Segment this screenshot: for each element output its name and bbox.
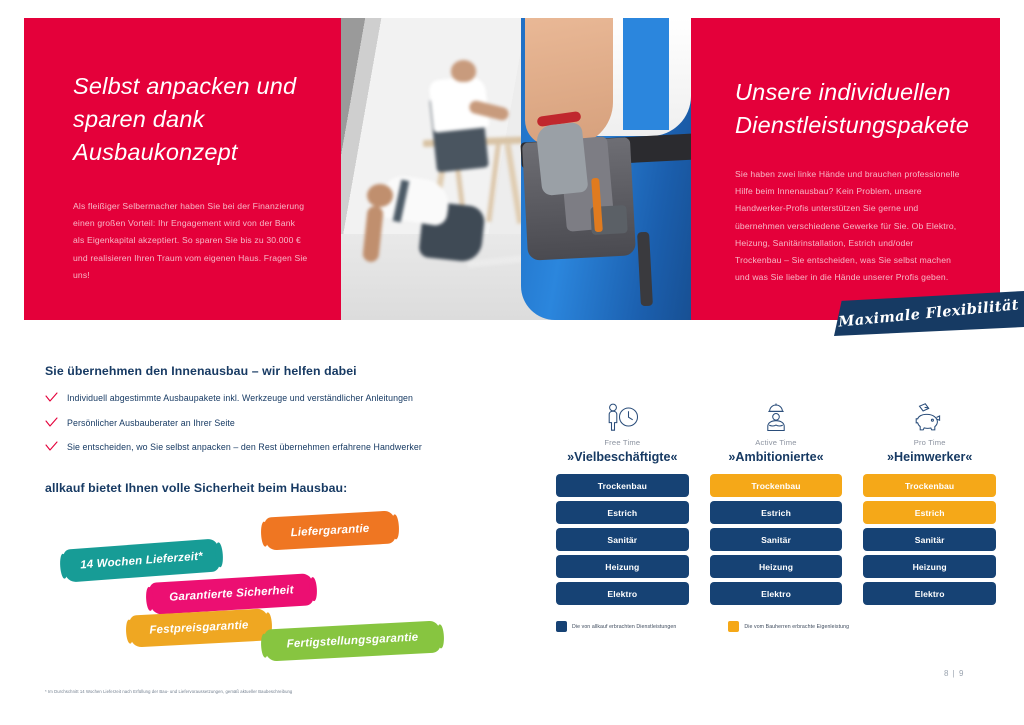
photo-worker-kneeling [363,170,473,282]
legend-swatch-navy [556,621,567,632]
list-item: Sie entscheiden, wo Sie selbst anpacken … [45,441,515,453]
service-packages: Free Time »Vielbeschäftigte« Trockenbau … [556,392,996,609]
package-row-trockenbau: Trockenbau [710,474,843,497]
package-column-vielbeschaeftigte: Free Time »Vielbeschäftigte« Trockenbau … [556,392,689,609]
check-icon [45,392,67,403]
person-clock-icon [603,392,641,432]
hero-photo [341,18,691,320]
hero-right-body: Sie haben zwei linke Hände und brauchen … [735,166,960,286]
package-title: »Ambitionierte« [728,450,823,464]
package-row-estrich: Estrich [710,501,843,524]
badge-14-wochen-lieferzeit: 14 Wochen Lieferzeit* [63,538,220,582]
package-row-trockenbau: Trockenbau [863,474,996,497]
hero-right-title: Unsere individuellen Dienstleistungspake… [735,76,970,142]
guarantee-badges: Liefergarantie 14 Wochen Lieferzeit* Gar… [45,505,465,655]
hero-panel-left: Selbst anpacken und sparen dank Ausbauko… [24,18,341,320]
package-title: »Vielbeschäftigte« [567,450,677,464]
package-subtitle: Active Time [755,438,796,447]
innenausbau-checklist: Individuell abgestimmte Ausbaupakete ink… [45,392,515,466]
hero-band: Selbst anpacken und sparen dank Ausbauko… [24,18,1000,320]
check-icon [45,441,67,452]
photo-foreground-craftsman [501,18,691,320]
package-row-sanitaer: Sanitär [710,528,843,551]
list-item: Individuell abgestimmte Ausbaupakete ink… [45,392,515,404]
legend-label: Die von allkauf erbrachten Dienstleistun… [572,624,676,630]
brochure-page: Selbst anpacken und sparen dank Ausbauko… [0,0,1024,725]
package-row-estrich: Estrich [556,501,689,524]
package-subtitle: Pro Time [914,438,946,447]
hero-left-body: Als fleißiger Selbermacher haben Sie bei… [73,198,309,284]
package-row-heizung: Heizung [710,555,843,578]
legend-label: Die vom Bauherren erbrachte Eigenleistun… [744,624,849,630]
piggy-bank-icon [911,392,949,432]
list-item-label: Sie entscheiden, wo Sie selbst anpacken … [67,441,422,453]
legend-item-bauherr: Die vom Bauherren erbrachte Eigenleistun… [728,621,849,632]
badge-fertigstellungsgarantie: Fertigstellungsgarantie [264,620,440,661]
list-item-label: Persönlicher Ausbauberater an Ihrer Seit… [67,417,235,429]
package-row-sanitaer: Sanitär [556,528,689,551]
package-row-elektro: Elektro [556,582,689,605]
worker-helmet-icon [757,392,795,432]
innenausbau-heading: Sie übernehmen den Innenausbau – wir hel… [45,364,357,378]
package-column-heimwerker: Pro Time »Heimwerker« Trockenbau Estrich… [863,392,996,609]
packages-legend: Die von allkauf erbrachten Dienstleistun… [556,621,849,632]
badge-garantierte-sicherheit: Garantierte Sicherheit [149,573,314,615]
package-row-heizung: Heizung [863,555,996,578]
hero-panel-right: Unsere individuellen Dienstleistungspake… [691,18,1000,320]
package-row-trockenbau: Trockenbau [556,474,689,497]
package-rows: Trockenbau Estrich Sanitär Heizung Elekt… [556,474,689,609]
legend-item-allkauf: Die von allkauf erbrachten Dienstleistun… [556,621,676,632]
badge-festpreisgarantie: Festpreisgarantie [129,608,268,647]
legend-swatch-orange [728,621,739,632]
package-rows: Trockenbau Estrich Sanitär Heizung Elekt… [710,474,843,609]
photo-worker-standing [425,60,489,170]
package-subtitle: Free Time [604,438,640,447]
flexibility-ribbon-label: Maximale Flexibilität [838,296,1020,330]
package-column-ambitionierte: Active Time »Ambitionierte« Trockenbau E… [710,392,843,609]
hero-left-title: Selbst anpacken und sparen dank Ausbauko… [73,70,311,169]
package-row-elektro: Elektro [710,582,843,605]
list-item-label: Individuell abgestimmte Ausbaupakete ink… [67,392,413,404]
badge-liefergarantie: Liefergarantie [264,510,396,550]
package-rows: Trockenbau Estrich Sanitär Heizung Elekt… [863,474,996,609]
list-item: Persönlicher Ausbauberater an Ihrer Seit… [45,417,515,429]
package-row-elektro: Elektro [863,582,996,605]
page-number: 8 | 9 [944,669,964,678]
footnote: * Im Durchschnitt 14 Wochen Lieferzeit n… [45,689,292,694]
package-row-sanitaer: Sanitär [863,528,996,551]
sicherheit-heading: allkauf bietet Ihnen volle Sicherheit be… [45,481,347,495]
package-title: »Heimwerker« [887,450,972,464]
package-row-heizung: Heizung [556,555,689,578]
package-row-estrich: Estrich [863,501,996,524]
check-icon [45,417,67,428]
